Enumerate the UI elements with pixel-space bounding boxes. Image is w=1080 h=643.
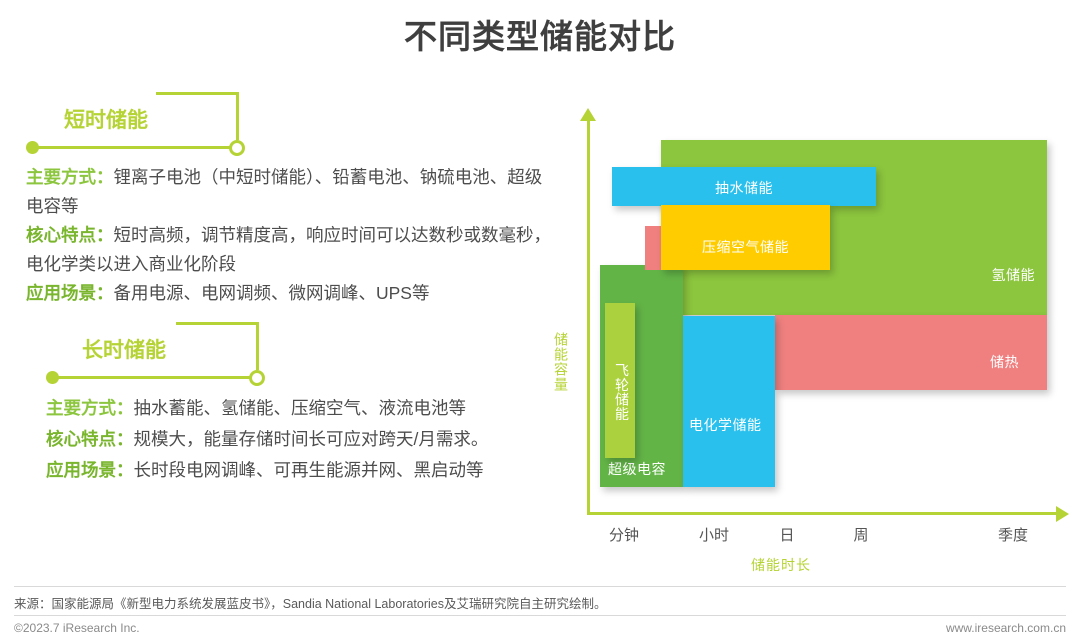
info-line-label: 主要方式： xyxy=(26,167,114,187)
footer-divider-bottom xyxy=(14,615,1066,616)
x-axis-line xyxy=(587,512,1059,515)
decorative-connector xyxy=(26,138,244,156)
info-line-text: 备用电源、电网调频、微网调峰、UPS等 xyxy=(114,283,430,303)
y-axis-arrow-icon xyxy=(580,108,596,121)
connector-cap xyxy=(156,92,239,95)
y-axis-line xyxy=(587,118,590,514)
info-line: 应用场景：长时段电网调峰、可再生能源并网、黑启动等 xyxy=(46,455,556,486)
chart-block-label: 飞轮储能 xyxy=(612,363,632,421)
x-tick-label: 小时 xyxy=(699,524,729,545)
connector-cap xyxy=(176,322,259,325)
chart-block-compressed-air-storage: 压缩空气储能 xyxy=(661,205,830,270)
info-line: 主要方式：锂离子电池（中短时储能）、铅蓄电池、钠硫电池、超级电容等 xyxy=(26,163,556,221)
connector-horizontal-line xyxy=(52,376,258,379)
section-long-duration-storage: 长时储能 主要方式：抽水蓄能、氢储能、压缩空气、液流电池等 核心特点：规模大，能… xyxy=(26,334,556,486)
section-heading: 短时储能 xyxy=(64,104,556,138)
info-line: 核心特点：短时高频，调节精度高，响应时间可以达数秒或数毫秒，电化学类以进入商业化… xyxy=(26,221,556,279)
connector-vertical-line xyxy=(256,322,259,370)
section-heading: 长时储能 xyxy=(82,334,556,368)
chart-block-electrochemical-storage: 电化学储能 xyxy=(683,316,775,487)
section-short-duration-storage: 短时储能 主要方式：锂离子电池（中短时储能）、铅蓄电池、钠硫电池、超级电容等 核… xyxy=(26,104,556,308)
chart-block-flywheel-storage: 飞轮储能 xyxy=(605,303,635,458)
connector-horizontal-line xyxy=(32,146,238,149)
website-link[interactable]: www.iresearch.com.cn xyxy=(946,621,1066,635)
chart-block-pumped-hydro-storage: 抽水储能 xyxy=(612,167,876,206)
section-body: 主要方式：锂离子电池（中短时储能）、铅蓄电池、钠硫电池、超级电容等 核心特点：短… xyxy=(26,163,556,308)
chart-block-thermal-storage: 储热 xyxy=(775,315,1047,390)
chart-block-label: 压缩空气储能 xyxy=(661,237,830,257)
chart-block-label: 超级电容 xyxy=(608,459,666,479)
chart-block-label: 储热 xyxy=(990,352,1019,372)
connector-dot-hollow xyxy=(249,370,265,386)
info-line-label: 应用场景： xyxy=(26,283,114,303)
section-body: 主要方式：抽水蓄能、氢储能、压缩空气、液流电池等 核心特点：规模大，能量存储时间… xyxy=(46,393,556,486)
x-axis-title: 储能时长 xyxy=(751,555,811,575)
info-line: 应用场景：备用电源、电网调频、微网调峰、UPS等 xyxy=(26,279,556,308)
page-title: 不同类型储能对比 xyxy=(0,10,1080,58)
info-line-label: 核心特点： xyxy=(46,429,134,449)
x-tick-label: 周 xyxy=(853,524,868,545)
x-tick-label: 日 xyxy=(779,524,794,545)
info-line-text: 抽水蓄能、氢储能、压缩空气、液流电池等 xyxy=(134,398,467,418)
copyright-text: ©2023.7 iResearch Inc. xyxy=(14,621,140,635)
x-axis-arrow-icon xyxy=(1056,506,1069,522)
connector-dot-filled xyxy=(46,371,59,384)
info-line-label: 核心特点： xyxy=(26,225,114,245)
decorative-connector xyxy=(46,368,264,386)
info-line: 核心特点：规模大，能量存储时间长可应对跨天/月需求。 xyxy=(46,424,556,455)
info-line-text: 长时段电网调峰、可再生能源并网、黑启动等 xyxy=(134,460,484,480)
footer-divider-top xyxy=(14,586,1066,587)
chart-block-label: 氢储能 xyxy=(992,265,1036,285)
chart-block-label: 电化学储能 xyxy=(689,415,762,435)
info-line: 主要方式：抽水蓄能、氢储能、压缩空气、液流电池等 xyxy=(46,393,556,424)
info-line-label: 主要方式： xyxy=(46,398,134,418)
chart-block-label: 抽水储能 xyxy=(612,178,876,198)
x-tick-label: 分钟 xyxy=(609,524,639,545)
connector-dot-hollow xyxy=(229,140,245,156)
storage-comparison-chart: 储能容量 储能时长 分钟 小时 日 周 季度 氢储能 超级电容 储热 电化学储能… xyxy=(556,100,1066,580)
connector-dot-filled xyxy=(26,141,39,154)
info-line-label: 应用场景： xyxy=(46,460,134,480)
info-line-text: 规模大，能量存储时间长可应对跨天/月需求。 xyxy=(134,429,489,449)
source-note: 来源：国家能源局《新型电力系统发展蓝皮书》，Sandia National La… xyxy=(14,593,606,612)
info-panel: 短时储能 主要方式：锂离子电池（中短时储能）、铅蓄电池、钠硫电池、超级电容等 核… xyxy=(26,104,556,524)
connector-vertical-line xyxy=(236,92,239,140)
y-axis-title: 储能容量 xyxy=(551,332,571,392)
x-tick-label: 季度 xyxy=(998,524,1028,545)
